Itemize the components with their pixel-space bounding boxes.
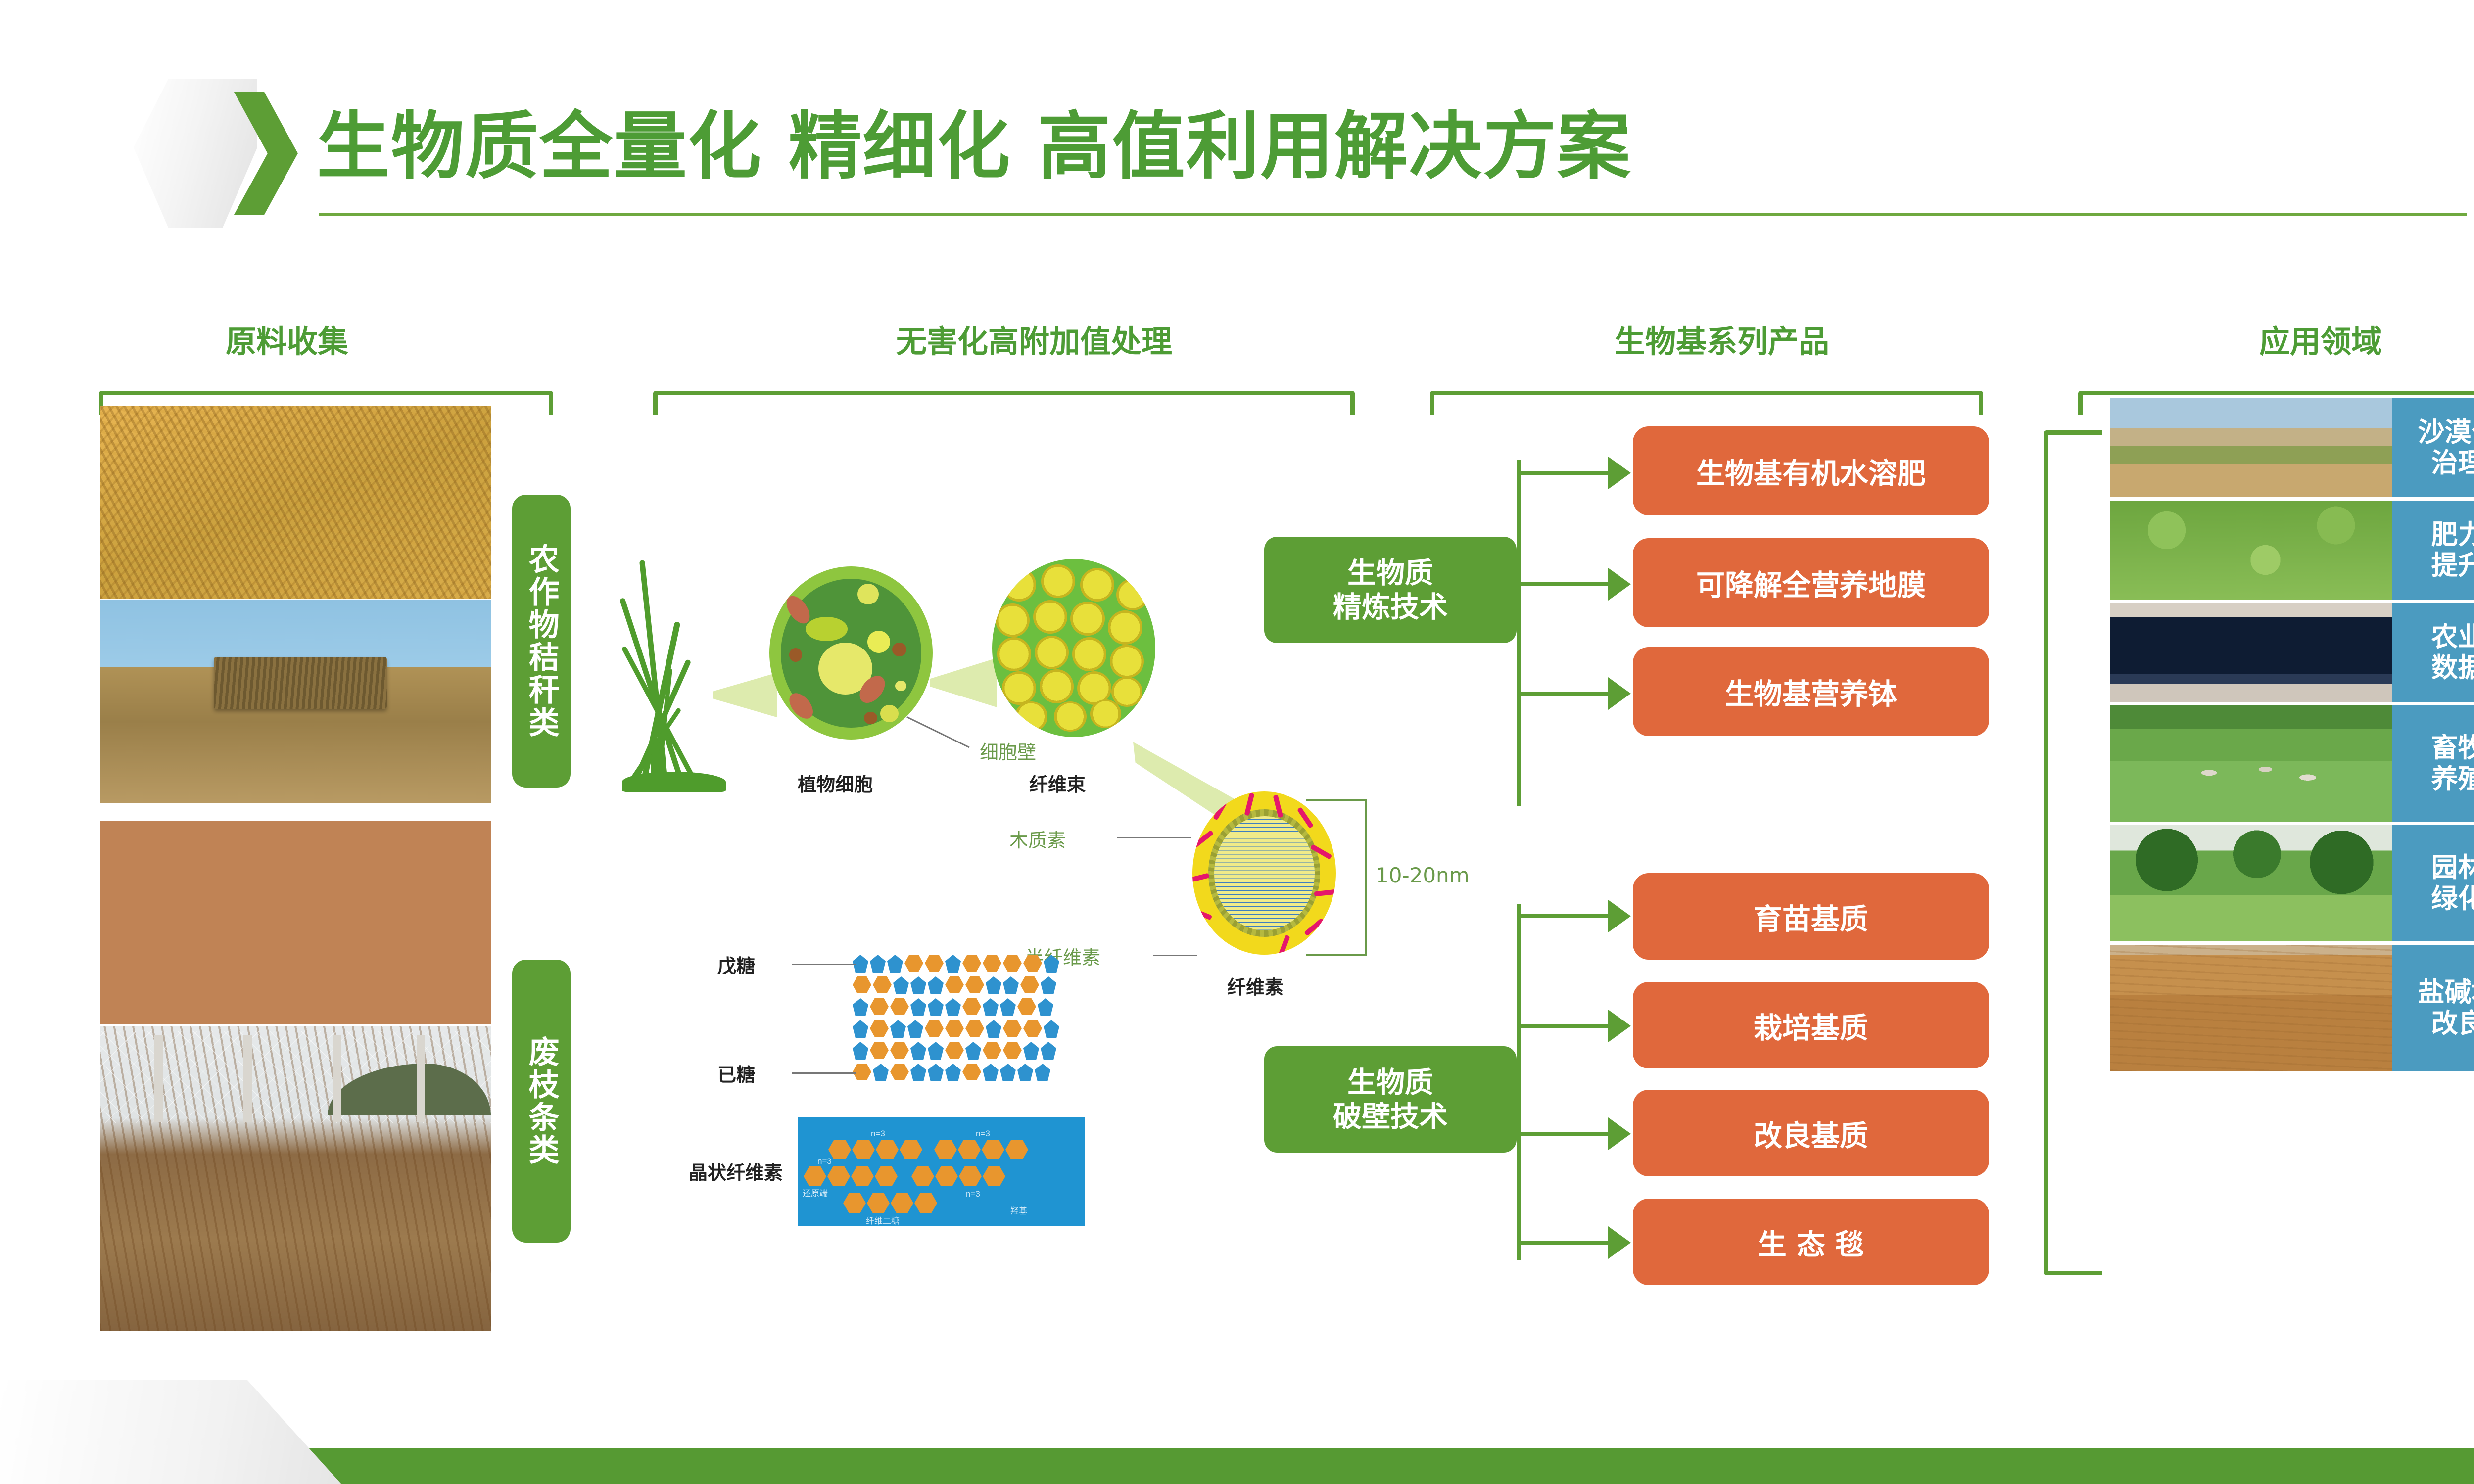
crystal-annotation-bottom: 纤维二糖 — [866, 1214, 900, 1226]
grass-plant-illustration — [621, 544, 735, 791]
pentose-leader-line — [792, 964, 856, 965]
crystal-annotation-n3-c: n=3 — [817, 1157, 832, 1166]
product-box-biodegradable-mulch-film[interactable]: 可降解全营养地膜 — [1633, 538, 1989, 627]
application-row-fertility[interactable]: 肥力 提升 — [2110, 501, 2474, 600]
crystal-annotation-n3-a: n=3 — [871, 1129, 885, 1139]
arrow-head-4 — [1608, 900, 1631, 932]
label-fiber-bundle: 纤维束 — [1029, 769, 1086, 796]
connector-branch-2 — [1517, 582, 1611, 586]
product-box-water-soluble-fertilizer[interactable]: 生物基有机水溶肥 — [1633, 426, 1989, 515]
product-box-seedling-substrate[interactable]: 育苗基质 — [1633, 873, 1989, 960]
sugar-lattice-diagram — [853, 955, 1130, 1103]
connector-branch-5 — [1517, 1024, 1611, 1028]
product-box-improvement-substrate[interactable]: 改良基质 — [1633, 1090, 1989, 1176]
tech-breaking-line2: 破壁技术 — [1333, 1100, 1448, 1133]
section-bracket-products — [1430, 391, 1983, 415]
section-title-applications: 应用领域 — [2098, 317, 2474, 361]
arrow-head-3 — [1608, 677, 1631, 710]
cabbage-field-photo — [2110, 501, 2392, 600]
lignin-leader-line — [1117, 837, 1191, 838]
label-pentose: 戊糖 — [717, 951, 755, 978]
application-caption-desertification: 沙漠化 治理 — [2392, 398, 2474, 497]
photo-corn-stover — [100, 406, 491, 599]
connector-branch-7 — [1517, 1241, 1611, 1245]
tech-box-cell-wall-breaking[interactable]: 生物质 破壁技术 — [1264, 1046, 1517, 1153]
connector-branch-6 — [1517, 1132, 1611, 1136]
label-plant-cell: 植物细胞 — [798, 769, 873, 796]
tech-refining-line1: 生物质 — [1347, 556, 1433, 590]
connector-trunk-breaking — [1517, 904, 1521, 1260]
app-cap-line1: 畜牧 — [2431, 732, 2474, 763]
application-caption-landscaping: 园林 绿化 — [2392, 825, 2474, 941]
product-box-nutrition-pot[interactable]: 生物基营养钵 — [1633, 647, 1989, 736]
app-cap-line2: 绿化 — [2431, 883, 2474, 914]
product-box-cultivation-substrate[interactable]: 栽培基质 — [1633, 982, 1989, 1068]
page-title: 生物质全量化 精细化 高值利用解决方案 — [317, 87, 1631, 193]
label-lignin: 木质素 — [1009, 825, 1066, 852]
connector-branch-1 — [1517, 471, 1611, 475]
photo-orchard-pruning — [100, 1026, 491, 1331]
application-row-landscaping[interactable]: 园林 绿化 — [2110, 825, 2474, 941]
application-caption-livestock: 畜牧 养殖 — [2392, 705, 2474, 822]
hemicellulose-leader-line — [1153, 955, 1197, 956]
label-hexose: 已糖 — [717, 1060, 755, 1087]
tech-box-refining[interactable]: 生物质 精炼技术 — [1264, 537, 1517, 643]
application-caption-saline-land: 盐碱地 改良 — [2392, 945, 2474, 1071]
page-header: 生物质全量化 精细化 高值利用解决方案 — [0, 0, 2474, 232]
application-row-desertification[interactable]: 沙漠化 治理 — [2110, 398, 2474, 497]
section-title-feedstock: 原料收集 — [148, 317, 426, 361]
label-cell-wall: 细胞壁 — [980, 737, 1036, 764]
app-cap-line2: 养殖 — [2431, 763, 2474, 794]
applications-bracket — [2044, 430, 2102, 1275]
crystalline-cellulose-panel: n=3 n=3 n=3 n=3 还原端 羟基 纤维二糖 — [798, 1117, 1085, 1226]
trellis-post — [243, 1035, 252, 1122]
arrow-head-2 — [1608, 568, 1631, 601]
cellulose-cross-section — [1192, 791, 1336, 955]
trellis-post — [154, 1035, 163, 1122]
arrow-head-6 — [1608, 1117, 1631, 1150]
tech-refining-line2: 精炼技术 — [1333, 590, 1448, 624]
tech-breaking-line1: 生物质 — [1347, 1066, 1433, 1099]
desert-control-photo — [2110, 398, 2392, 497]
connector-branch-4 — [1517, 914, 1611, 918]
app-cap-line1: 沙漠化 — [2418, 417, 2474, 448]
saline-land-photo — [2110, 945, 2392, 1071]
application-row-agri-data[interactable]: 农业 数据 — [2110, 603, 2474, 702]
app-cap-line1: 园林 — [2431, 852, 2474, 883]
application-caption-agri-data: 农业 数据 — [2392, 603, 2474, 702]
label-dimension: 10-20nm — [1376, 863, 1470, 887]
product-box-ecological-blanket[interactable]: 生 态 毯 — [1633, 1199, 1989, 1285]
data-center-photo — [2110, 603, 2392, 702]
hexose-leader-line — [792, 1072, 856, 1074]
section-title-products: 生物基系列产品 — [1425, 317, 2019, 361]
app-cap-line2: 提升 — [2431, 550, 2474, 581]
title-underline-rule — [319, 213, 2467, 216]
plant-cell-illustration — [769, 566, 933, 740]
hexagon-logo-mark — [134, 79, 297, 232]
app-cap-line2: 改良 — [2431, 1008, 2474, 1039]
application-row-saline-land[interactable]: 盐碱地 改良 — [2110, 945, 2474, 1071]
straw-bale-shape — [214, 657, 387, 709]
application-caption-fertility: 肥力 提升 — [2392, 501, 2474, 600]
app-cap-line1: 农业 — [2431, 621, 2474, 652]
app-cap-line1: 肥力 — [2431, 519, 2474, 550]
sheep-pasture-photo — [2110, 705, 2392, 822]
label-cellulose: 纤维素 — [1227, 972, 1284, 999]
section-title-processing: 无害化高附加值处理 — [713, 317, 1356, 361]
footer-green-bar — [0, 1448, 2474, 1484]
label-crystalline-cellulose: 晶状纤维素 — [689, 1158, 783, 1185]
arrow-head-1 — [1608, 457, 1631, 489]
trellis-post — [417, 1035, 425, 1122]
arrow-head-5 — [1608, 1010, 1631, 1042]
app-cap-line2: 数据 — [2431, 652, 2474, 683]
dimension-cap-top — [1306, 799, 1367, 801]
arrow-head-7 — [1608, 1226, 1631, 1259]
crystal-annotation-n3-b: n=3 — [976, 1129, 990, 1139]
trellis-post — [333, 1035, 341, 1122]
fiber-bundle-illustration — [992, 559, 1155, 737]
crystal-annotation-n3-d: n=3 — [966, 1189, 980, 1199]
cell-wall-leader-line — [906, 716, 969, 748]
connector-branch-3 — [1517, 692, 1611, 696]
hexagon-white-shape — [134, 79, 257, 228]
photo-pruned-branches — [100, 821, 491, 1024]
application-row-livestock[interactable]: 畜牧 养殖 — [2110, 705, 2474, 822]
crystal-annotation-right: 羟基 — [1010, 1204, 1027, 1216]
footer-white-wedge — [0, 1380, 356, 1484]
section-bracket-processing — [653, 391, 1355, 415]
connector-trunk-refining — [1517, 460, 1521, 806]
dimension-line — [1365, 800, 1367, 955]
magnify-beam-2 — [930, 658, 997, 707]
crystal-annotation-left: 还原端 — [803, 1186, 828, 1199]
category-label-crop-straw: 农作物秸秆类 — [512, 495, 571, 788]
app-cap-line1: 盐碱地 — [2418, 976, 2474, 1008]
category-label-waste-branches: 废枝条类 — [512, 960, 571, 1243]
app-cap-line2: 治理 — [2431, 447, 2474, 478]
dimension-cap-bottom — [1306, 954, 1367, 956]
park-trees-photo — [2110, 825, 2392, 941]
photo-straw-bale — [100, 600, 491, 803]
